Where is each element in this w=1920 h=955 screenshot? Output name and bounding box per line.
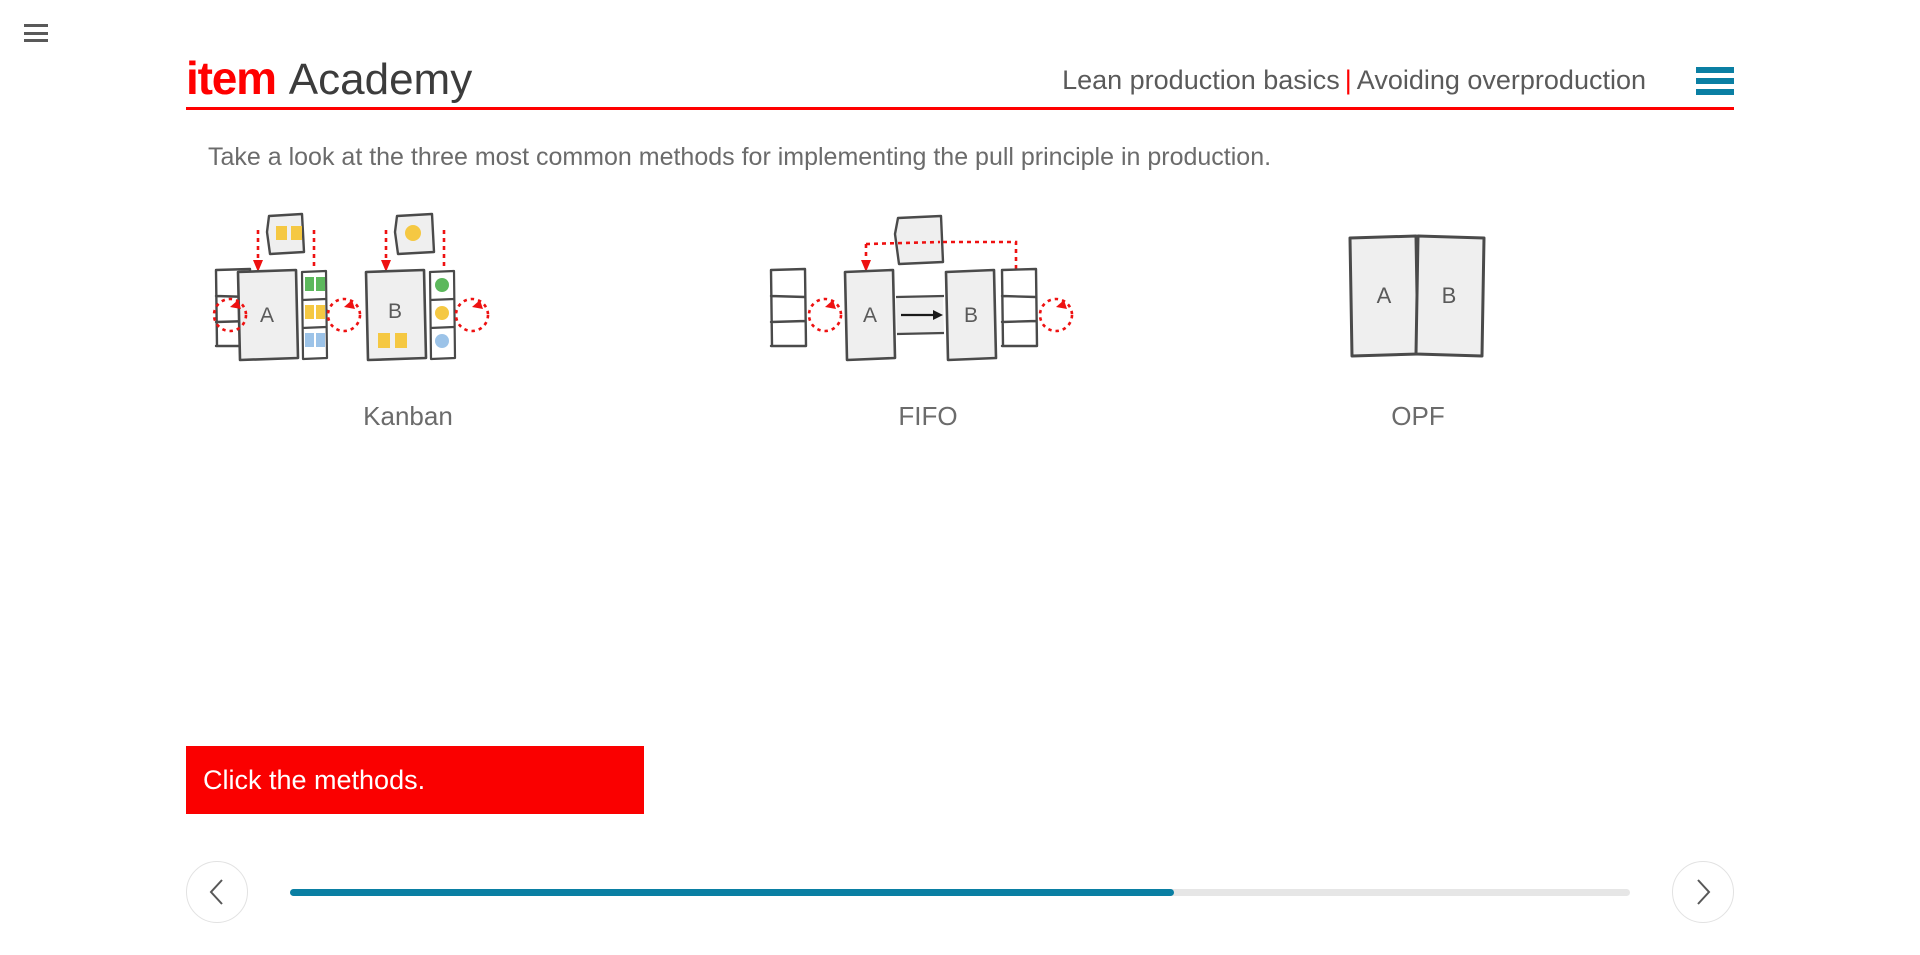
method-label-fifo: FIFO: [898, 401, 957, 432]
header-divider: [186, 107, 1734, 110]
chevron-left-icon: [204, 877, 230, 907]
opf-diagram-svg: A B: [1308, 208, 1528, 383]
hamburger-menu-icon-bar: [1696, 67, 1734, 73]
hamburger-menu-icon-bar: [24, 32, 48, 35]
station-label-b: B: [388, 300, 402, 323]
breadcrumb: Lean production basics|Avoiding overprod…: [1062, 65, 1646, 96]
page-root: item Academy Lean production basics|Avoi…: [0, 0, 1920, 955]
instruction-banner: Click the methods.: [186, 746, 644, 814]
breadcrumb-lesson: Avoiding overproduction: [1357, 65, 1646, 95]
page-header: item Academy Lean production basics|Avoi…: [186, 0, 1734, 110]
station-label-a: A: [1377, 283, 1392, 308]
kanban-card-chip: [276, 226, 287, 240]
station-label-b: B: [964, 304, 978, 327]
method-card-kanban[interactable]: A: [208, 208, 608, 432]
station-label-a: A: [260, 304, 274, 327]
instruction-text: Click the methods.: [203, 765, 425, 796]
method-card-fifo[interactable]: A B: [728, 208, 1128, 432]
opf-diagram[interactable]: A B: [1248, 208, 1588, 383]
hamburger-menu-icon-bar: [24, 24, 48, 27]
breadcrumb-course[interactable]: Lean production basics: [1062, 65, 1340, 95]
station-label-a: A: [863, 304, 877, 327]
breadcrumb-separator: |: [1340, 65, 1357, 95]
kanban-diagram[interactable]: A: [208, 208, 608, 383]
fifo-diagram-svg: A B: [763, 208, 1093, 383]
methods-row: A: [186, 208, 1734, 432]
content-column: item Academy Lean production basics|Avoi…: [186, 0, 1734, 955]
hamburger-menu-icon-bar: [1696, 78, 1734, 84]
brand-name-academy: Academy: [289, 58, 472, 102]
progress-bar[interactable]: [290, 889, 1630, 896]
brand-name-item: item: [186, 55, 276, 101]
hamburger-menu-icon-bar: [1696, 89, 1734, 95]
method-card-opf[interactable]: A B OPF: [1248, 208, 1588, 432]
method-label-kanban: Kanban: [363, 401, 453, 432]
footer-navigation: [186, 852, 1734, 932]
fifo-diagram[interactable]: A B: [728, 208, 1128, 383]
station-label-b: B: [1442, 283, 1457, 308]
global-menu-button[interactable]: [24, 24, 48, 42]
header-right-group: Lean production basics|Avoiding overprod…: [1062, 65, 1734, 102]
chevron-right-icon: [1690, 877, 1716, 907]
intro-text: Take a look at the three most common met…: [186, 143, 1734, 172]
progress-bar-fill: [290, 889, 1174, 896]
previous-button[interactable]: [186, 861, 248, 923]
kanban-card-chip: [291, 226, 302, 240]
hamburger-menu-icon-bar: [24, 39, 48, 42]
nav-menu-button[interactable]: [1696, 67, 1734, 95]
kanban-diagram-svg: A: [208, 208, 608, 383]
brand-logo[interactable]: item Academy: [186, 55, 472, 102]
method-label-opf: OPF: [1391, 401, 1444, 432]
kanban-card-chip: [405, 225, 421, 241]
next-button[interactable]: [1672, 861, 1734, 923]
